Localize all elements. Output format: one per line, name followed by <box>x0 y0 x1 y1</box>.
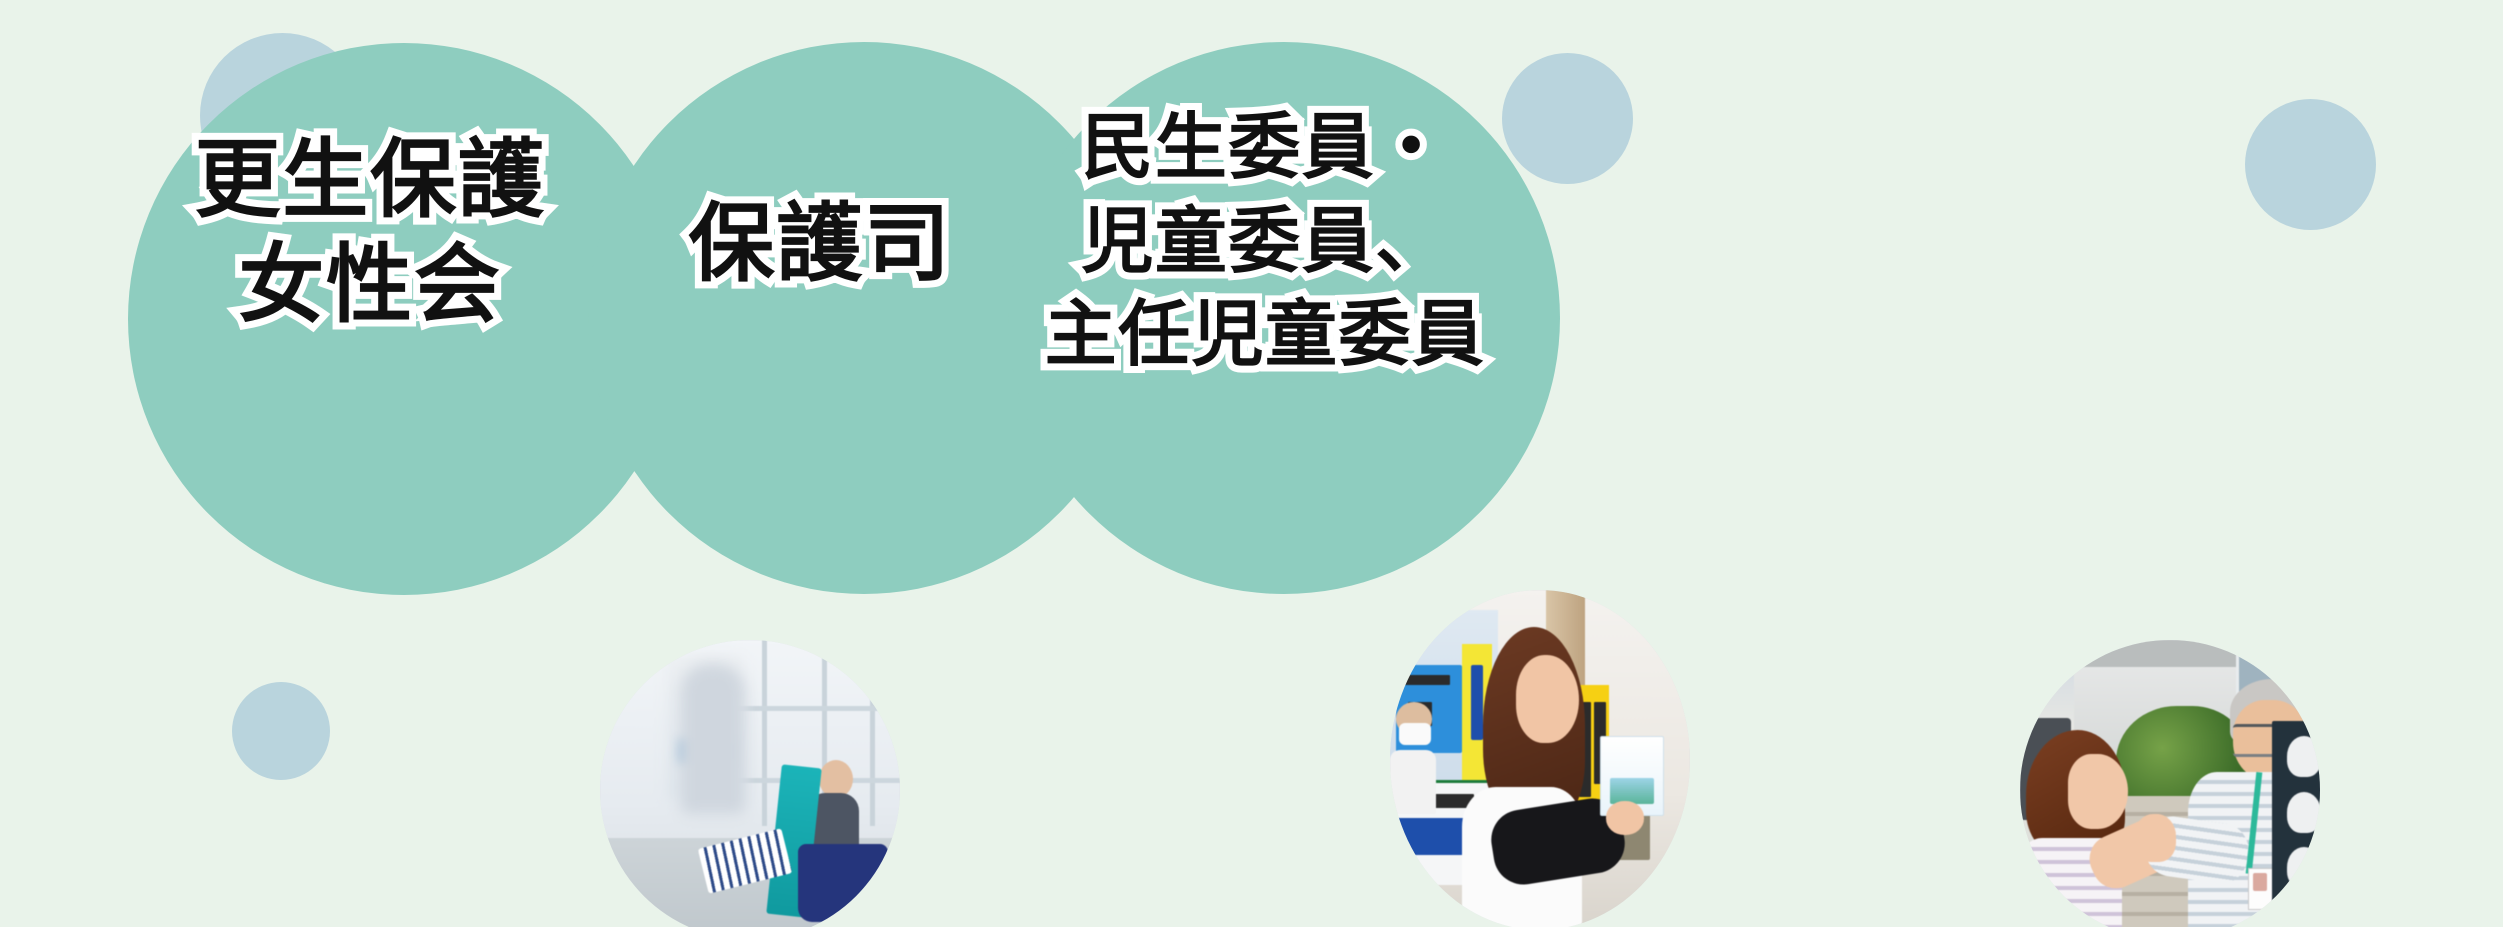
board-cutout <box>2287 736 2320 777</box>
board-cutout <box>2287 847 2320 888</box>
bystander-body <box>1390 750 1436 814</box>
banner-text <box>1471 665 1483 740</box>
group-photo-kousei-hogo-joseikai <box>600 640 900 927</box>
photo-scene <box>1390 590 1690 927</box>
banner-text <box>1402 675 1450 685</box>
group-photo-hogoshi <box>1390 590 1690 927</box>
glasses-icon <box>600 640 654 661</box>
display-board <box>2272 721 2320 907</box>
accent-circle-bottom-left-icon <box>232 682 330 780</box>
face <box>2068 754 2128 829</box>
accent-circle-top-middle-icon <box>1502 53 1633 184</box>
window-frame <box>762 640 767 826</box>
illustration-banner: 更生保護 女性会 保護司 民生委員・ 児童委員、 主任児童委員 <box>0 0 2503 927</box>
photo-scene <box>600 640 900 927</box>
group-photo-minsei-iin <box>2020 640 2320 927</box>
board-cutout <box>2287 792 2320 833</box>
face <box>1516 655 1579 743</box>
group-circle-minsei-iin <box>1008 42 1560 594</box>
face-mask <box>1399 723 1431 745</box>
photo-scene <box>2020 640 2320 927</box>
background-person <box>681 664 745 814</box>
hand <box>1606 801 1644 835</box>
hand <box>2134 814 2176 862</box>
accent-circle-top-right-icon <box>2245 99 2376 230</box>
window-frame <box>870 640 875 826</box>
tote-bag <box>798 844 888 922</box>
